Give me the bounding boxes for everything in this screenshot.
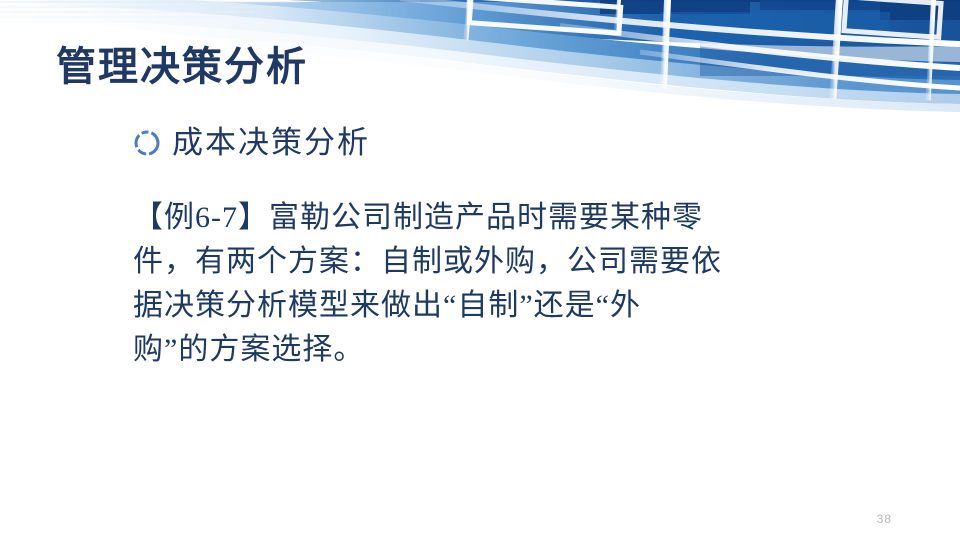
body-line-2: 件，有两个方案：自制或外购，公司需要依 [133, 240, 853, 284]
body-line-1: 【例6-7】富勒公司制造产品时需要某种零 [133, 196, 853, 240]
banner-scanlines [0, 2, 300, 22]
page-title: 管理决策分析 [56, 44, 308, 90]
ring-bullet-icon [132, 128, 162, 158]
banner-band-navy [0, 0, 960, 22]
subheading-label: 成本决策分析 [172, 126, 370, 160]
body-paragraph: 【例6-7】富勒公司制造产品时需要某种零 件，有两个方案：自制或外购，公司需要依… [133, 196, 853, 372]
page-number: 38 [877, 512, 892, 526]
slide-canvas: 管理决策分析 成本决策分析 【例6-7】富勒公司制造产品时需要某种零 件，有两个… [0, 0, 960, 540]
banner-band-deep [0, 0, 960, 47]
body-line-3: 据决策分析模型来做出“自制”还是“外 [133, 284, 853, 328]
subheading-row: 成本决策分析 [132, 126, 370, 160]
banner-grid-lines [400, 0, 960, 118]
body-line-4: 购”的方案选择。 [133, 328, 853, 372]
